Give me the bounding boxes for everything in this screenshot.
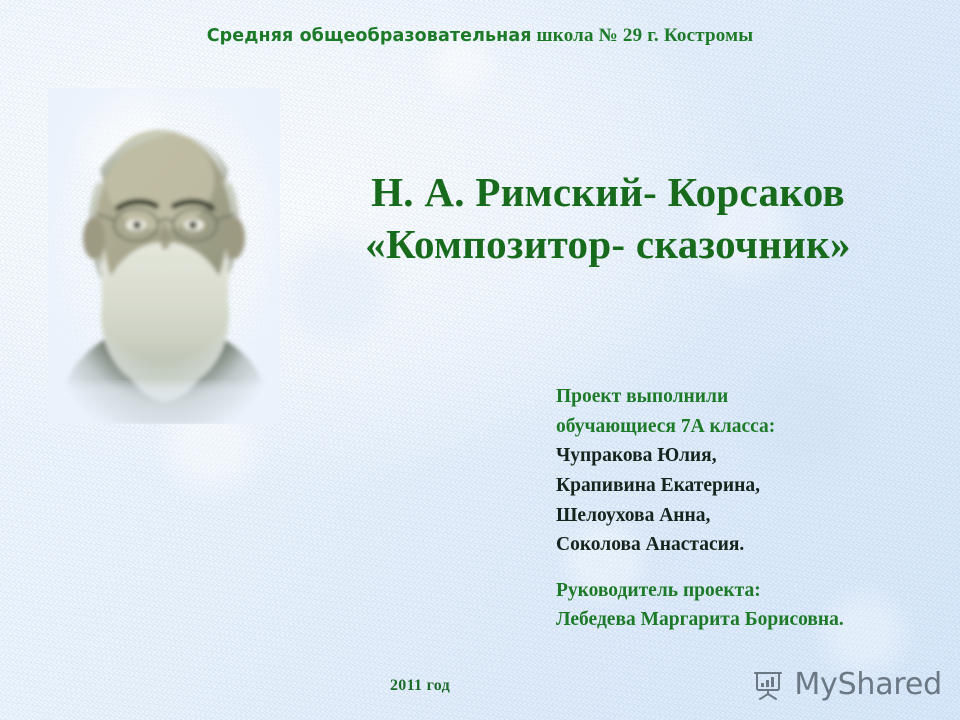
presentation-slide: Средняя общеобразовательная школа № 29 г… [0,0,960,720]
credits-intro-line-1: Проект выполнили [556,382,956,412]
slide-year: 2011 год [0,677,840,695]
student-name-4: Соколова Анастасия. [556,530,956,560]
title-line-2: «Композитор- сказочник» [258,220,958,268]
myshared-watermark[interactable]: MyShared [751,667,942,702]
school-name-part2: школа № 29 г. Костромы [532,25,754,46]
student-name-2: Крапивина Екатерина, [556,471,956,501]
slide-title: Н. А. Римский- Корсаков «Композитор- ска… [258,168,958,269]
school-name-part1: Средняя общеобразовательная [207,26,532,46]
title-line-1: Н. А. Римский- Корсаков [258,168,958,216]
credits-spacer [556,560,956,576]
supervisor-label: Руководитель проекта: [556,576,956,606]
presentation-board-icon [751,668,785,702]
myshared-brand-text: MyShared [794,667,942,702]
student-name-1: Чупракова Юлия, [556,441,956,471]
student-name-3: Шелоухова Анна, [556,501,956,531]
portrait-image [48,88,280,424]
credits-block: Проект выполнили обучающиеся 7А класса: … [556,382,956,635]
credits-intro-line-2: обучающиеся 7А класса: [556,412,956,442]
composer-portrait [48,88,280,424]
school-name-header: Средняя общеобразовательная школа № 29 г… [0,26,960,47]
supervisor-name: Лебедева Маргарита Борисовна. [556,605,956,635]
